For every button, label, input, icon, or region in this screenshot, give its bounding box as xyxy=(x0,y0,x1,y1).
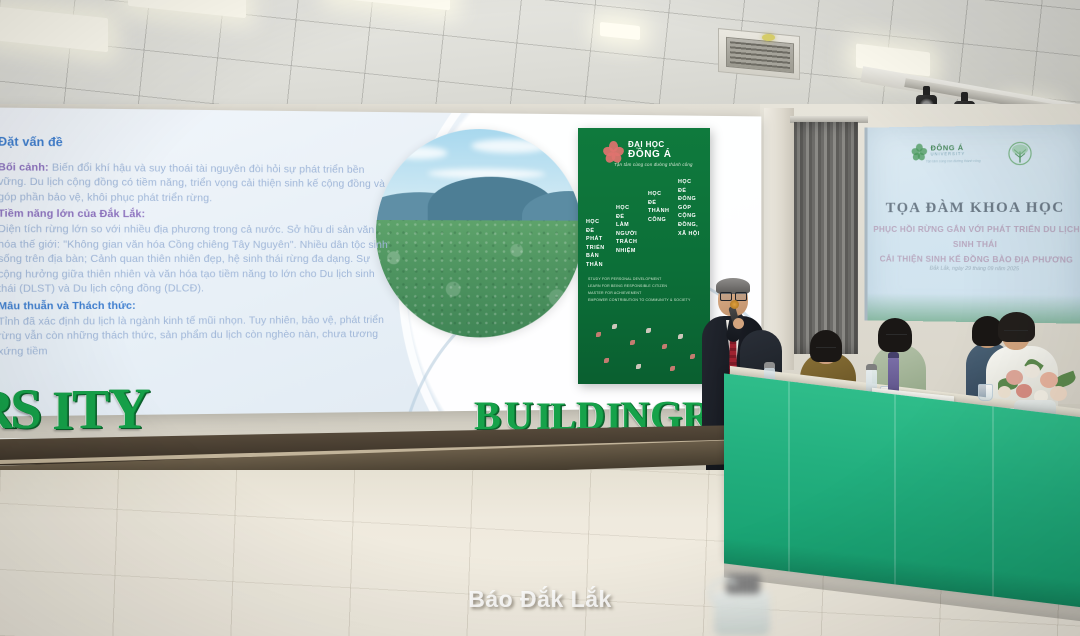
slide-block-3-body: Tỉnh đã xác định du lịch là ngành kinh t… xyxy=(0,313,388,360)
ac-vent xyxy=(726,37,794,74)
motto-line: TRÁCH xyxy=(616,238,637,247)
letter-S: S xyxy=(10,381,42,438)
flower-bloom xyxy=(1016,384,1032,398)
secondary-display-screen: ĐÔNG Á UNIVERSITY Tận tâm cùng con đường… xyxy=(865,124,1080,323)
motto-line: THÀNH xyxy=(648,207,669,216)
motto-line: HỌC xyxy=(678,178,700,187)
flower-bloom xyxy=(1050,386,1067,401)
tv-seminar-subtitle: PHỤC HỒI RỪNG GẮN VỚI PHÁT TRIỂN DU LỊCH… xyxy=(871,222,1080,268)
watermark: Báo Đắk Lắk xyxy=(0,586,1080,613)
motto-line: HỌC xyxy=(648,190,669,199)
motto-line: ĐỂ xyxy=(586,227,605,236)
slide-block-1: Bối cảnh: Biến đổi khí hậu và suy thoái … xyxy=(0,161,388,208)
bottle-cap xyxy=(888,352,899,358)
motto-line: CỘNG xyxy=(678,212,700,221)
english-motto-line: EMPOWER CONTRIBUTION TO COMMUNITY & SOCI… xyxy=(588,297,691,304)
slide-block-2-lead: Tiềm năng lớn của Đắk Lắk: xyxy=(0,208,388,224)
flower-bloom xyxy=(1024,364,1040,378)
english-motto-line: LEARN FOR BEING RESPONSIBLE CITIZEN xyxy=(588,283,691,290)
bottle-cap xyxy=(764,362,775,368)
flower-bloom xyxy=(998,386,1011,398)
eyeglasses-icon xyxy=(1004,330,1028,335)
banner-petal-decoration xyxy=(578,314,710,384)
smoke-detector xyxy=(762,34,775,41)
motto-line: ĐÓNG xyxy=(678,195,700,204)
panelist-5-hair xyxy=(998,312,1035,342)
slide-block-1-lead: Bối cảnh: xyxy=(0,162,49,174)
slide-block-1-body: Biến đổi khí hậu và suy thoái tài nguyên… xyxy=(0,162,385,204)
motto-line: PHÁT xyxy=(586,235,605,244)
panelist-2-hair xyxy=(810,330,842,362)
slide-text-block: Đặt vấn đề Bối cảnh: Biến đổi khí hậu và… xyxy=(0,134,388,360)
motto-line: ĐỂ xyxy=(648,199,669,208)
tv-logo-row: ĐÔNG Á UNIVERSITY Tận tâm cùng con đường… xyxy=(912,141,1051,169)
bottle-cap xyxy=(866,364,877,370)
flower-logo-icon xyxy=(604,142,624,162)
window-curtain xyxy=(794,122,858,354)
letter-T: T xyxy=(72,382,109,438)
eyeglasses-icon xyxy=(886,334,907,339)
tv-logo-sub: UNIVERSITY xyxy=(931,151,966,156)
banner-tagline: Tận tâm cùng con đường thành công xyxy=(614,162,693,167)
motto-line: LÀM xyxy=(616,221,637,230)
tv-subtitle-line1: PHỤC HỒI RỪNG GẮN VỚI PHÁT TRIỂN DU LỊCH… xyxy=(871,222,1080,253)
banner-motto-col-3: HỌC ĐỂ THÀNH CÔNG xyxy=(648,190,669,224)
banner-motto-col-1: HỌC ĐỂ PHÁT TRIỂN BẢN THÂN xyxy=(586,218,605,270)
motto-line: NHIỆM xyxy=(616,247,637,256)
banner-motto-col-4: HỌC ĐỂ ĐÓNG GÓP CỘNG ĐỒNG, XÃ HỘI xyxy=(678,178,700,238)
banner-english-motto: STUDY FOR PERSONAL DEVELOPMENT LEARN FOR… xyxy=(588,276,691,304)
university-standee-banner: ĐẠI HỌC ĐÔNG Á Tận tâm cùng con đường th… xyxy=(578,128,710,384)
banner-logo: ĐẠI HỌC ĐÔNG Á Tận tâm cùng con đường th… xyxy=(604,140,694,168)
motto-line: THÂN xyxy=(586,261,605,270)
motto-line: ĐỂ xyxy=(678,187,700,196)
motto-line: GÓP xyxy=(678,204,700,213)
slide-block-3-lead: Mâu thuẫn và Thách thức: xyxy=(0,299,388,315)
slide-block-3: Mâu thuẫn và Thách thức:Tỉnh đã xác định… xyxy=(0,299,388,360)
motto-line: TRIỂN xyxy=(586,244,605,253)
speaker-hand xyxy=(733,318,744,329)
drinking-glass xyxy=(978,384,993,401)
slide-heading: Đặt vấn đề xyxy=(0,134,388,152)
letter-I: I xyxy=(52,383,73,438)
motto-line: NGƯỜI xyxy=(616,230,637,239)
air-conditioner-unit xyxy=(718,28,800,80)
tv-seminar-date: Đắk Lắk, ngày 29 tháng 09 năm 2025 xyxy=(868,265,1080,272)
motto-line: CÔNG xyxy=(648,216,669,225)
flower-logo-icon xyxy=(912,145,927,160)
eyeglasses-icon xyxy=(720,292,746,299)
eyeglasses-icon xyxy=(816,347,836,352)
photo-scene: Đặt vấn đề Bối cảnh: Biến đổi khí hậu và… xyxy=(0,0,1080,636)
motto-line: ĐỒNG, xyxy=(678,221,700,230)
motto-line: XÃ HỘI xyxy=(678,230,700,239)
slide-block-2: Tiềm năng lớn của Đắk Lắk:Diện tích rừng… xyxy=(0,208,388,298)
motto-line: ĐỂ xyxy=(616,213,637,222)
english-motto-line: MASTER FOR ACHIEVEMENT xyxy=(588,290,691,297)
tv-seminar-title: TỌA ĐÀM KHOA HỌC xyxy=(868,200,1080,218)
motto-line: HỌC xyxy=(616,204,637,213)
forest-canopy xyxy=(376,220,582,338)
english-motto-line: STUDY FOR PERSONAL DEVELOPMENT xyxy=(588,276,691,283)
microphone-head xyxy=(730,300,739,309)
tv-logo-tagline: Tận tâm cùng con đường thành công xyxy=(926,159,981,164)
motto-line: BẢN xyxy=(586,252,605,261)
slide-forest-photo xyxy=(376,128,582,338)
letter-Y: Y xyxy=(108,380,150,438)
flower-bloom xyxy=(1006,370,1023,385)
tree-logo-icon xyxy=(1003,141,1037,172)
slide-block-2-body: Diện tích rừng lớn so với nhiều địa phươ… xyxy=(0,223,388,298)
banner-motto-col-2: HỌC ĐỂ LÀM NGƯỜI TRÁCH NHIỆM xyxy=(616,204,637,256)
motto-line: HỌC xyxy=(586,218,605,227)
banner-logo-text: ĐẠI HỌC ĐÔNG Á xyxy=(628,140,672,160)
banner-logo-line2: ĐÔNG Á xyxy=(628,150,672,160)
